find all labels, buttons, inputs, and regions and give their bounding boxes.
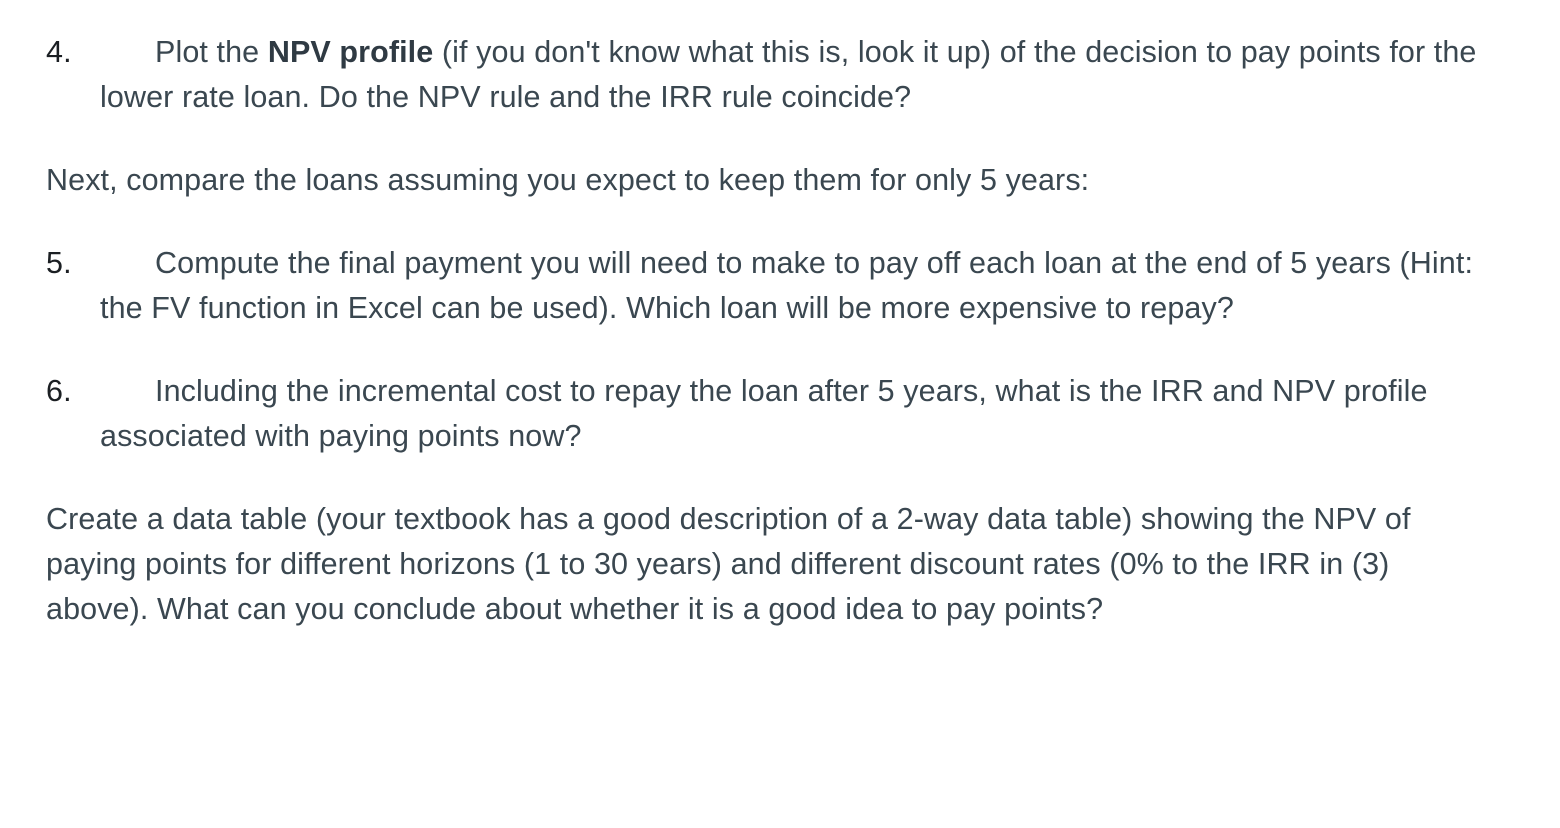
list-item-text-5: Compute the final payment you will need … — [100, 241, 1500, 331]
document-page: 4. Plot the NPV profile (if you don't kn… — [0, 0, 1560, 828]
item4-bold-term: NPV profile — [268, 35, 433, 69]
list-marker-6: 6. — [46, 369, 72, 414]
list-item: 5. Compute the final payment you will ne… — [46, 241, 1500, 331]
list-marker-5: 5. — [46, 241, 72, 286]
list-item-text-4: Plot the NPV profile (if you don't know … — [100, 30, 1500, 120]
list-marker-4: 4. — [46, 30, 72, 75]
list-item: 6. Including the incremental cost to rep… — [46, 369, 1500, 459]
document-body: 4. Plot the NPV profile (if you don't kn… — [46, 30, 1500, 632]
item4-text-before-bold: Plot the — [155, 35, 268, 69]
list-item-text-6: Including the incremental cost to repay … — [100, 369, 1500, 459]
paragraph-next-compare: Next, compare the loans assuming you exp… — [46, 158, 1446, 203]
list-item: 4. Plot the NPV profile (if you don't kn… — [46, 30, 1500, 120]
paragraph-create-data-table: Create a data table (your textbook has a… — [46, 497, 1436, 632]
